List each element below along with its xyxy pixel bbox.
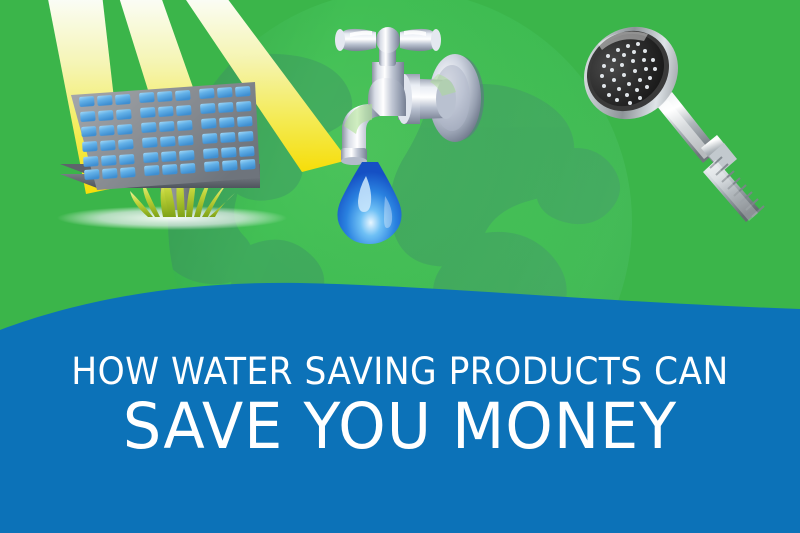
water-wave-divider xyxy=(0,0,800,533)
water-saving-banner: HOW WATER SAVING PRODUCTS CAN SAVE YOU M… xyxy=(0,0,800,533)
wave-shape xyxy=(0,283,800,533)
